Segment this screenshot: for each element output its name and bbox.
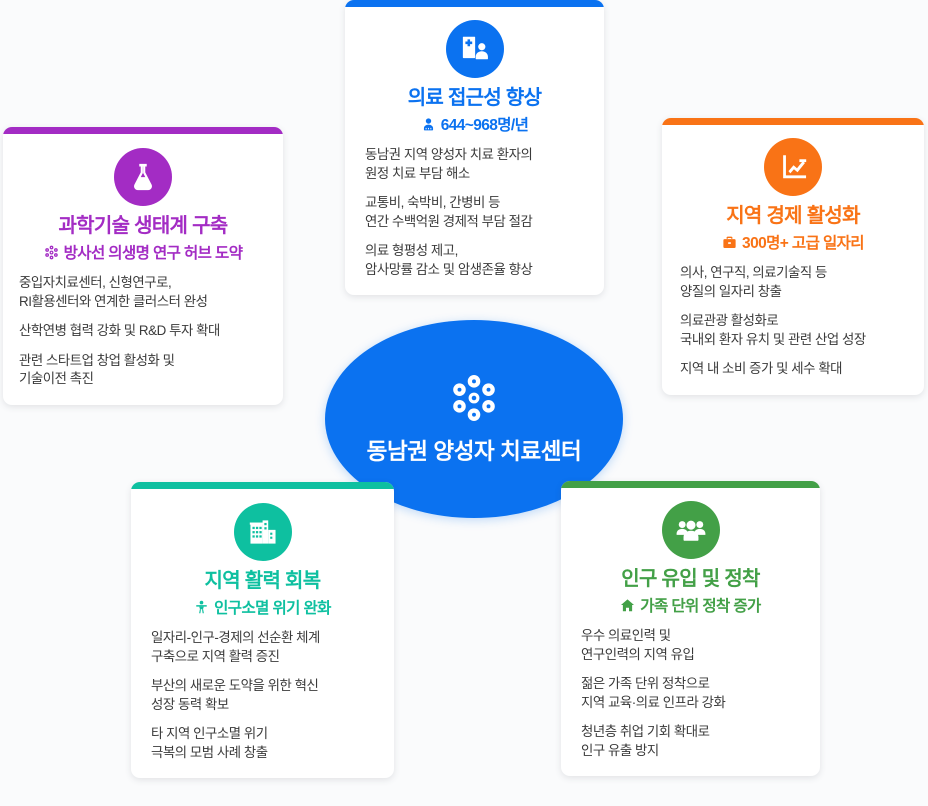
list-item: 부산의 새로운 도약을 위한 혁신 성장 동력 확보 (147, 677, 378, 714)
card-accent-bar (131, 482, 394, 489)
list-item: 일자리-인구-경제의 선순환 체계 구축으로 지역 활력 증진 (147, 629, 378, 666)
card-accent-bar (345, 0, 604, 7)
card-title: 과학기술 생태계 구축 (58, 214, 227, 238)
card-accent-bar (3, 127, 283, 134)
card-medical-access[interactable]: 의료 접근성 향상 644~968명/년 동남권 지역 양성자 치료 환자의 원… (345, 0, 604, 295)
card-bullet-list: 의사, 연구직, 의료기술직 등 양질의 일자리 창출 의료관광 활성화로 국내… (678, 264, 908, 379)
infographic-canvas: 동남권 양성자 치료센터 과학기술 생태계 구축 (0, 0, 928, 806)
card-accent-bar (561, 481, 820, 488)
list-item: 청년층 취업 기회 확대로 인구 유출 방지 (577, 723, 804, 760)
list-item: 산학연병 협력 강화 및 R&D 투자 확대 (19, 322, 267, 341)
list-item: 젊은 가족 단위 정착으로 지역 교육·의료 인프라 강화 (577, 675, 804, 712)
hub-label: 동남권 양성자 치료센터 (367, 434, 582, 466)
card-subtitle-text: 644~968명/년 (441, 113, 529, 135)
list-item: 중입자치료센터, 신형연구로, RI활용센터와 연계한 클러스터 완성 (19, 274, 267, 311)
card-population-inflow[interactable]: 인구 유입 및 정착 가족 단위 정착 증가 우수 의료인력 및 연구인력의 지… (561, 481, 820, 776)
people-group-icon (662, 501, 720, 559)
card-subtitle-text: 인구소멸 위기 완화 (214, 596, 331, 618)
chart-line-up-icon (764, 138, 822, 196)
card-subtitle: 644~968명/년 (421, 113, 529, 135)
card-subtitle-text: 방사선 의생명 연구 허브 도약 (64, 241, 243, 263)
flask-icon (114, 148, 172, 206)
card-subtitle-text: 가족 단위 정착 증가 (640, 594, 760, 616)
list-item: 관련 스타트업 창업 활성화 및 기술이전 촉진 (19, 352, 267, 389)
city-buildings-icon (234, 503, 292, 561)
list-item: 의사, 연구직, 의료기술직 등 양질의 일자리 창출 (678, 264, 908, 301)
card-title: 지역 경제 활성화 (726, 204, 860, 228)
card-bullet-list: 일자리-인구-경제의 선순환 체계 구축으로 지역 활력 증진 부산의 새로운 … (147, 629, 378, 762)
list-item: 우수 의료인력 및 연구인력의 지역 유입 (577, 627, 804, 664)
child-person-icon (194, 600, 209, 615)
list-item: 교통비, 숙박비, 간병비 등 연간 수백억원 경제적 부담 절감 (361, 194, 588, 231)
card-subtitle: 방사선 의생명 연구 허브 도약 (44, 241, 243, 263)
atom-badge-icon (44, 245, 59, 260)
card-title: 의료 접근성 향상 (408, 86, 542, 110)
atom-icon (448, 372, 500, 424)
list-item: 동남권 지역 양성자 치료 환자의 원정 치료 부담 해소 (361, 146, 588, 183)
person-icon (421, 117, 436, 132)
card-bullet-list: 우수 의료인력 및 연구인력의 지역 유입 젊은 가족 단위 정착으로 지역 교… (577, 627, 804, 760)
list-item: 의료관광 활성화로 국내외 환자 유치 및 관련 산업 성장 (678, 312, 908, 349)
card-title: 인구 유입 및 정착 (621, 567, 759, 591)
medical-record-person-icon (446, 20, 504, 78)
list-item: 타 지역 인구소멸 위기 극복의 모범 사례 창출 (147, 725, 378, 762)
card-bullet-list: 중입자치료센터, 신형연구로, RI활용센터와 연계한 클러스터 완성 산학연병… (19, 274, 267, 389)
card-subtitle: 300명+ 고급 일자리 (722, 231, 864, 253)
list-item: 의료 형평성 제고, 암사망률 감소 및 암생존율 향상 (361, 242, 588, 279)
list-item: 지역 내 소비 증가 및 세수 확대 (678, 360, 908, 379)
card-science-ecosystem[interactable]: 과학기술 생태계 구축 (3, 127, 283, 405)
card-local-economy[interactable]: 지역 경제 활성화 300명+ 고급 일자리 의사, 연구직, 의료기술직 등 … (662, 118, 924, 395)
card-subtitle-text: 300명+ 고급 일자리 (742, 231, 864, 253)
card-accent-bar (662, 118, 924, 125)
card-bullet-list: 동남권 지역 양성자 치료 환자의 원정 치료 부담 해소 교통비, 숙박비, … (361, 146, 588, 279)
card-subtitle: 가족 단위 정착 증가 (620, 594, 760, 616)
card-title: 지역 활력 회복 (205, 569, 321, 593)
home-icon (620, 598, 635, 613)
card-subtitle: 인구소멸 위기 완화 (194, 596, 331, 618)
briefcase-icon (722, 235, 737, 250)
card-regional-vitality[interactable]: 지역 활력 회복 인구소멸 위기 완화 일자리-인구-경제의 선순환 체계 구축… (131, 482, 394, 778)
